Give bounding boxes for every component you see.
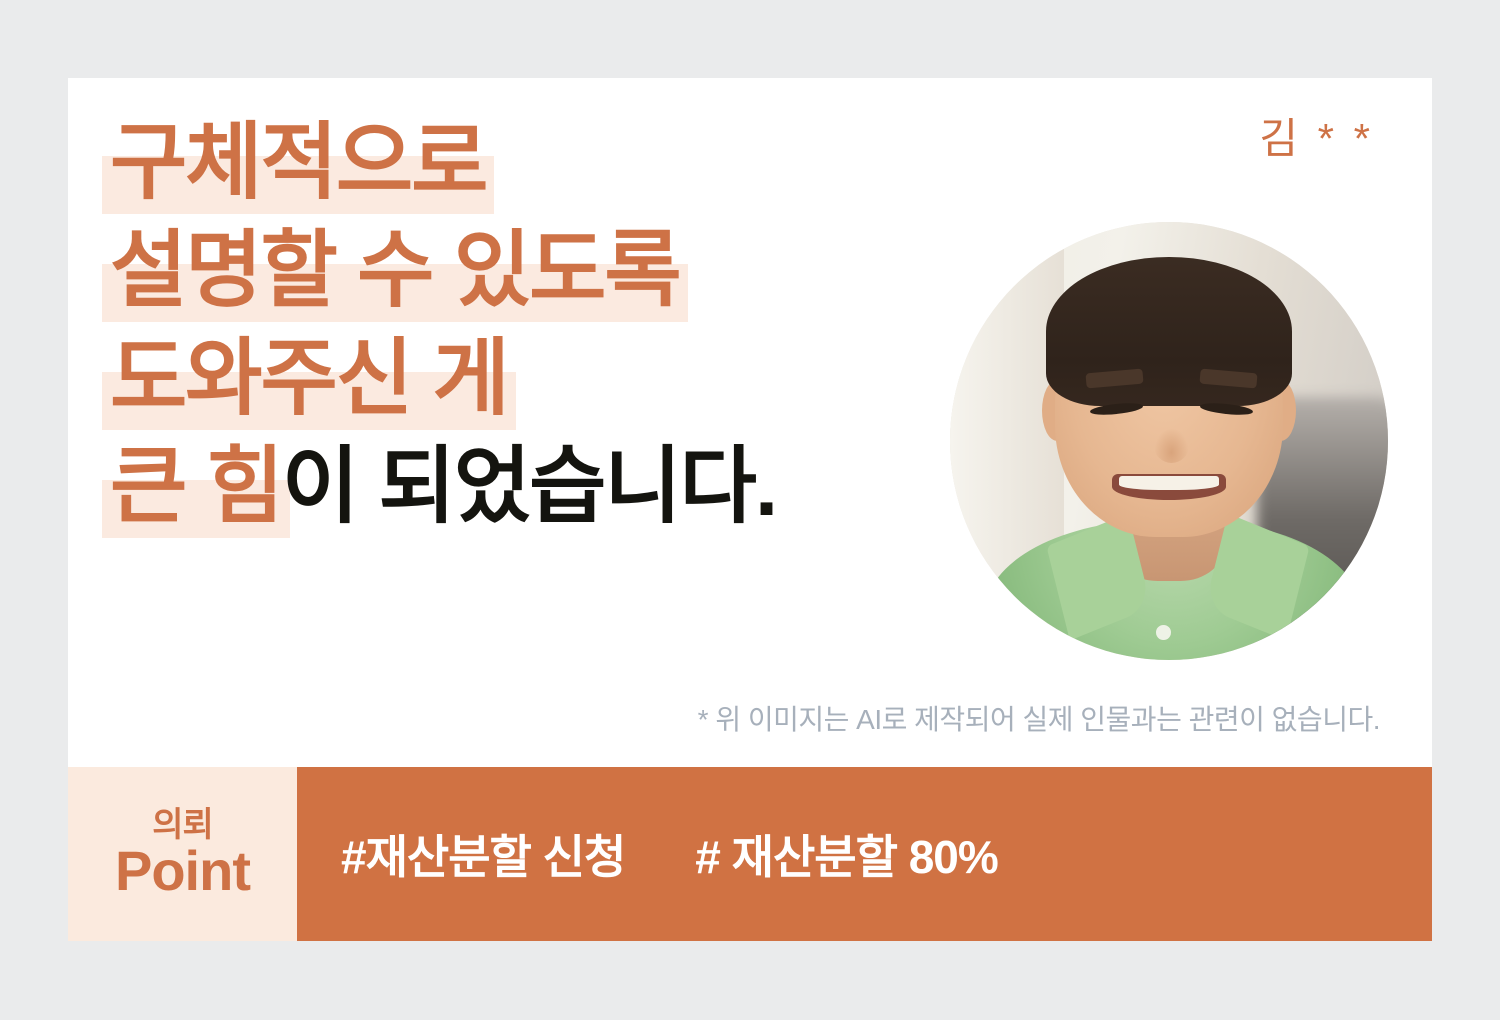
- headline: 구체적으로 설명할 수 있도록 도와주신 게 큰 힘이 되었습니다.: [110, 108, 950, 540]
- screenshot-root: 김 * * 구체적으로 설명할 수 있도록 도와주신 게 큰 힘이 되었습니다.: [0, 0, 1500, 1020]
- headline-line-1: 구체적으로: [110, 108, 950, 216]
- photo-shirt-button: [1156, 625, 1171, 640]
- testimonial-card: 김 * * 구체적으로 설명할 수 있도록 도와주신 게 큰 힘이 되었습니다.: [68, 78, 1432, 941]
- point-label-english: Point: [115, 842, 250, 901]
- client-name-label: 김 * *: [1259, 118, 1374, 160]
- tag-list: #재산분할 신청 # 재산분할 80%: [297, 767, 1432, 941]
- headline-line-4-highlight: 큰 힘: [110, 439, 282, 533]
- point-panel: 의뢰 Point: [68, 767, 297, 941]
- tag-item-2[interactable]: # 재산분할 80%: [695, 821, 998, 887]
- headline-line-1-text: 구체적으로: [110, 115, 486, 209]
- photo-nose: [1154, 428, 1189, 463]
- tag-item-1[interactable]: #재산분할 신청: [341, 821, 625, 887]
- photo-teeth: [1119, 476, 1219, 490]
- ai-image-disclaimer: * 위 이미지는 AI로 제작되어 실제 인물과는 관련이 없습니다.: [68, 698, 1380, 738]
- headline-line-4: 큰 힘이 되었습니다.: [110, 432, 950, 540]
- headline-line-2: 설명할 수 있도록: [110, 216, 950, 324]
- headline-line-4-rest: 이 되었습니다.: [282, 439, 776, 533]
- footer-bar: 의뢰 Point #재산분할 신청 # 재산분할 80%: [68, 767, 1432, 941]
- client-portrait-photo: [950, 222, 1388, 660]
- point-label-korean: 의뢰: [152, 808, 213, 842]
- photo-mouth: [1112, 474, 1226, 500]
- headline-line-3: 도와주신 게: [110, 324, 950, 432]
- headline-line-3-text: 도와주신 게: [110, 331, 508, 425]
- headline-line-2-text: 설명할 수 있도록: [110, 223, 680, 317]
